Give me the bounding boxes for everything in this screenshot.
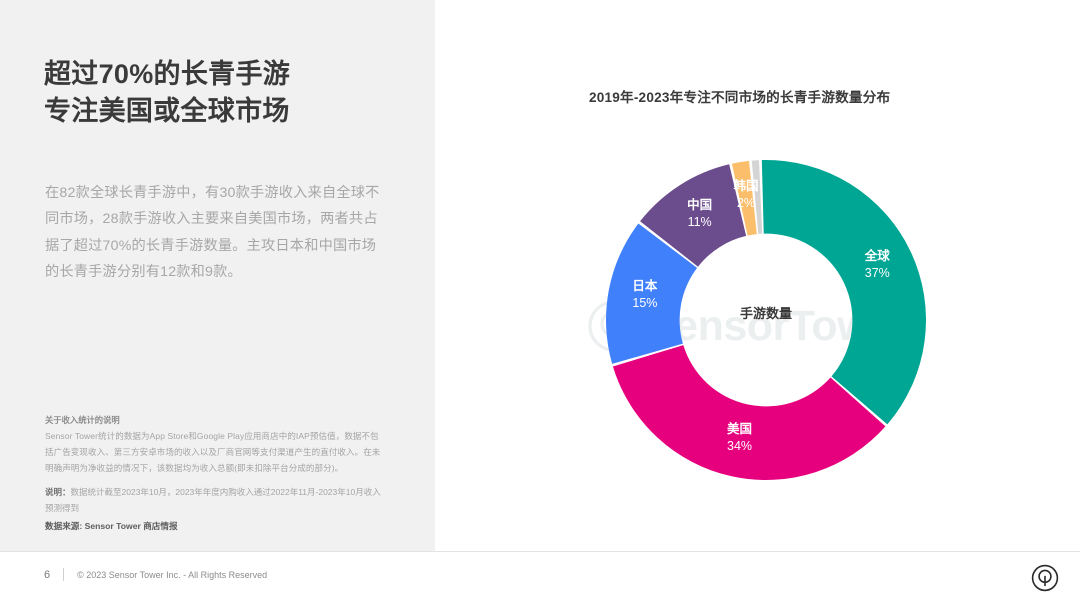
notes-explain-line: 说明：数据统计截至2023年10月，2023年年度内购收入通过2022年11月-… — [45, 485, 387, 516]
notes-source: 数据来源: Sensor Tower 商店情报 — [45, 518, 387, 534]
page-number: 6 — [44, 569, 50, 581]
page-title: 超过70%的长青手游 专注美国或全球市场 — [44, 56, 404, 131]
footer-divider — [0, 551, 1080, 552]
notes-explain-label: 说明： — [45, 487, 71, 497]
notes-heading: 关于收入统计的说明 — [45, 414, 387, 427]
chart-title: 2019年-2023年专注不同市场的长青手游数量分布 — [589, 86, 890, 106]
notes-body: Sensor Tower统计的数据为App Store和Google Play应… — [45, 429, 387, 476]
donut-chart: 手游数量 全球37%美国34%日本15%中国11%韩国2% — [586, 140, 946, 500]
copyright-text: © 2023 Sensor Tower Inc. - All Rights Re… — [77, 570, 267, 580]
donut-slice — [762, 160, 926, 424]
left-text-panel: 超过70%的长青手游 专注美国或全球市场 在82款全球长青手游中，有30款手游收… — [0, 0, 435, 551]
body-paragraph: 在82款全球长青手游中，有30款手游收入来自全球不同市场，28款手游收入主要来自… — [45, 180, 383, 285]
footnotes-block: 关于收入统计的说明 Sensor Tower统计的数据为App Store和Go… — [45, 414, 387, 534]
sensor-tower-logo-icon — [1031, 564, 1059, 592]
footer: 6 © 2023 Sensor Tower Inc. - All Rights … — [44, 568, 267, 581]
donut-center-label: 手游数量 — [711, 303, 821, 322]
notes-explain-text: 数据统计截至2023年10月，2023年年度内购收入通过2022年11月-202… — [45, 487, 381, 512]
slide-canvas: 超过70%的长青手游 专注美国或全球市场 在82款全球长青手游中，有30款手游收… — [0, 0, 1080, 608]
footer-separator — [63, 568, 64, 581]
